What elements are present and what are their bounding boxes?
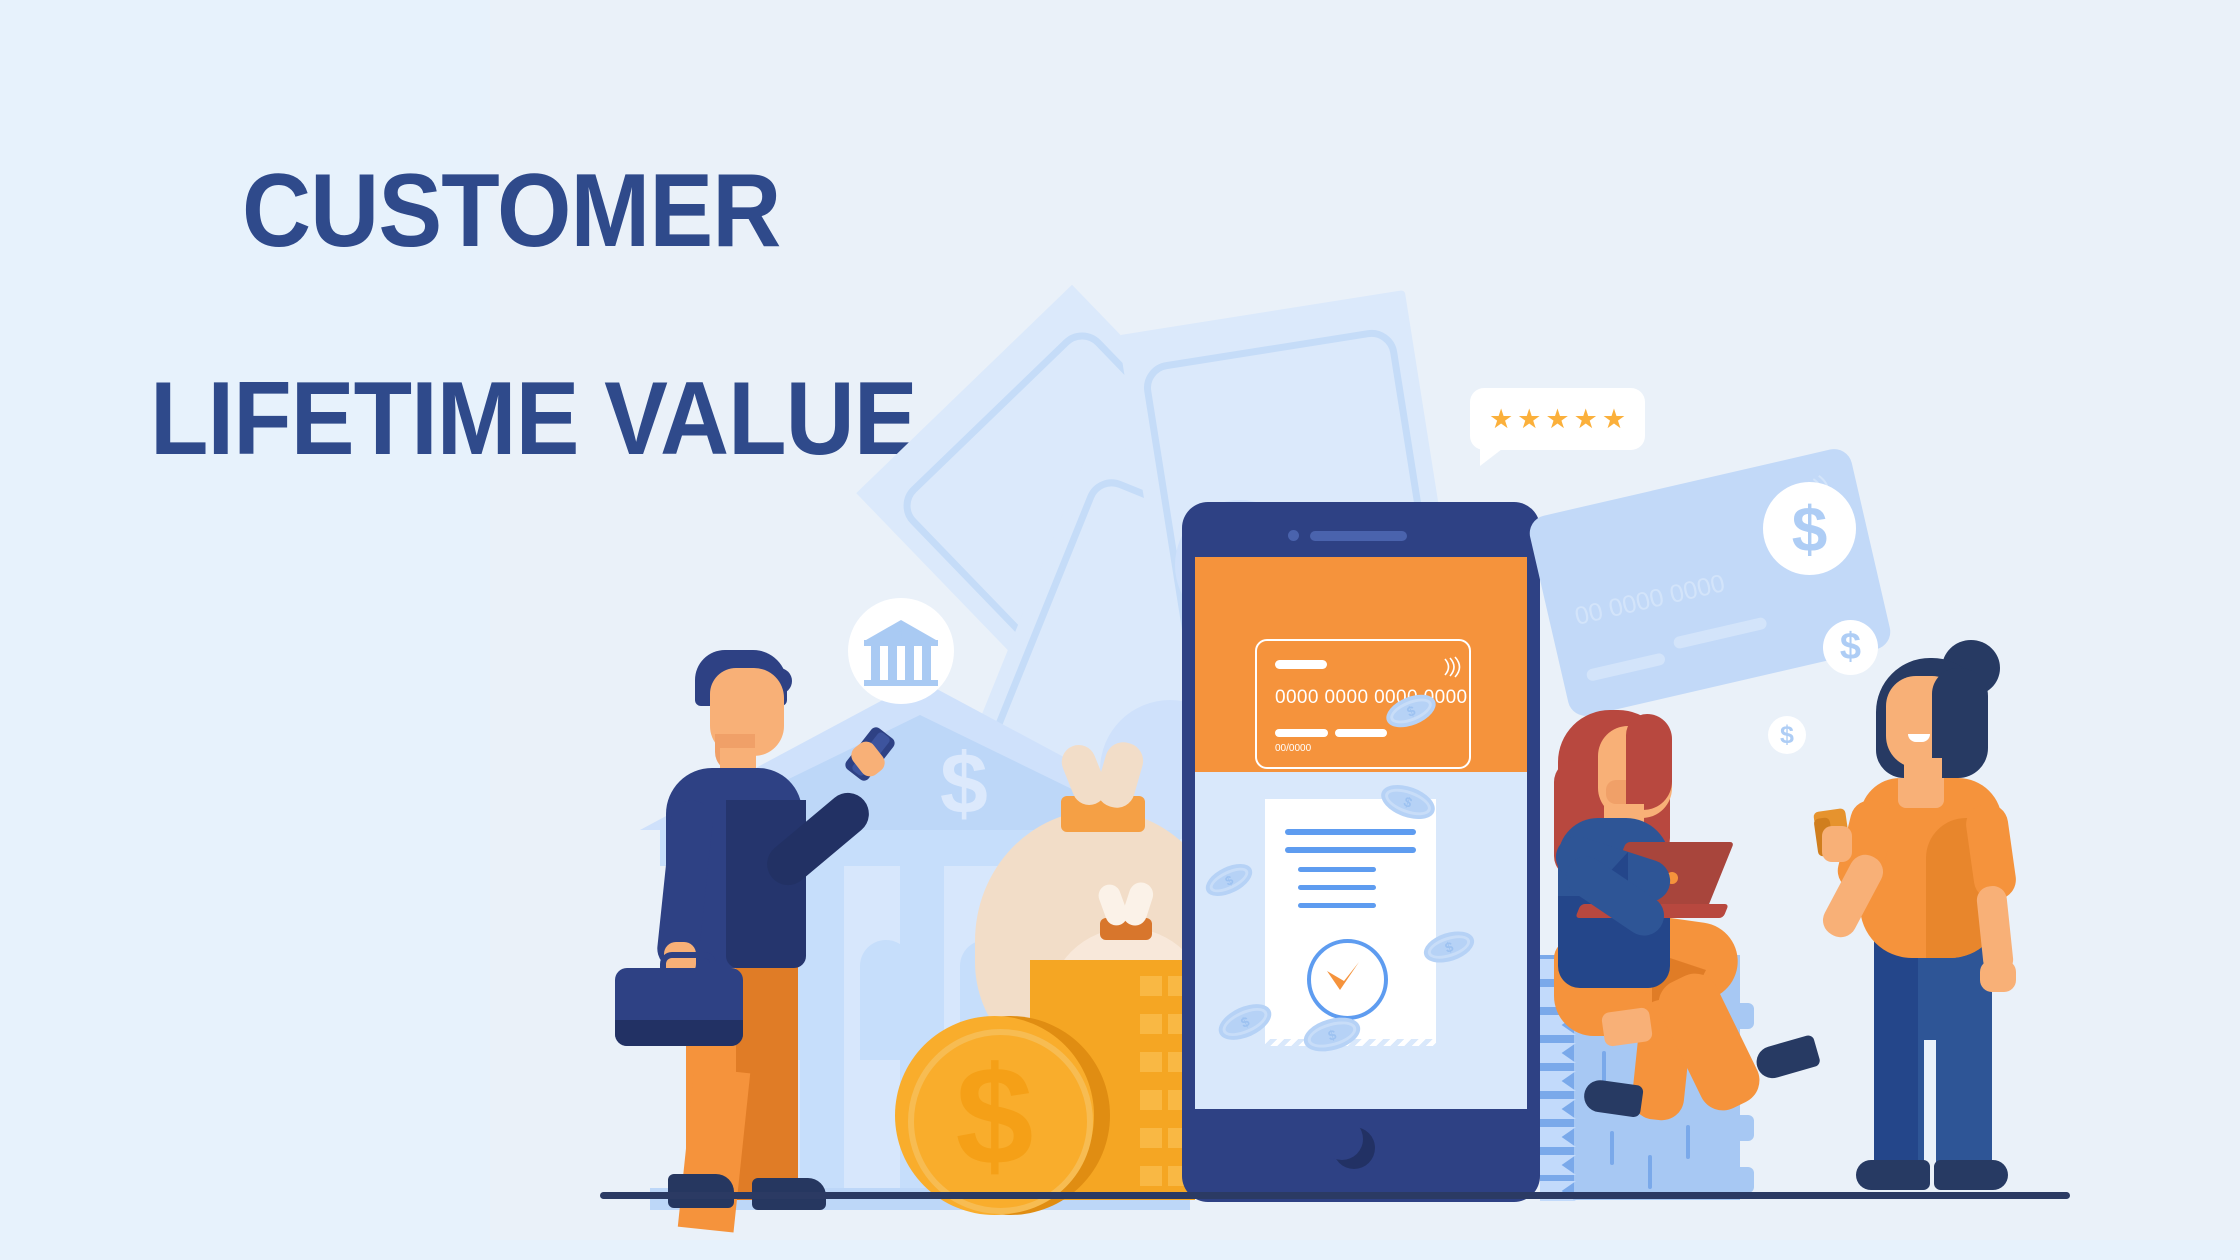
illustration-canvas: CUSTOMER LIFETIME VALUE $ $ bbox=[0, 0, 2240, 1260]
coin-dollar-symbol: $ bbox=[895, 1016, 1094, 1215]
phone-screen[interactable]: 0000 0000 0000 0000 00/0000 $ bbox=[1195, 557, 1527, 1109]
star-icon: ★ bbox=[1574, 406, 1598, 433]
title-line-2: LIFETIME VALUE bbox=[150, 367, 917, 471]
camera-icon bbox=[1288, 530, 1299, 541]
review-bubble: ★ ★ ★ ★ ★ bbox=[1470, 388, 1645, 450]
woman-with-laptop-figure bbox=[1548, 700, 1848, 1200]
ground-line bbox=[600, 1192, 2070, 1199]
star-icon: ★ bbox=[1489, 406, 1513, 433]
svg-text:$: $ bbox=[897, 625, 905, 640]
card-chip-icon bbox=[1275, 660, 1327, 669]
card-expiry: 00/0000 bbox=[1275, 743, 1311, 754]
title-line-1: CUSTOMER bbox=[150, 159, 917, 263]
businessman-figure bbox=[640, 650, 900, 1210]
speaker-icon bbox=[1310, 531, 1407, 541]
card-number: 0000 0000 0000 0000 bbox=[1275, 687, 1468, 709]
dollar-badge-large: $ bbox=[1763, 482, 1856, 575]
floating-coin: $ bbox=[1201, 857, 1257, 902]
check-mark-icon bbox=[1321, 957, 1365, 1001]
star-icon: ★ bbox=[1602, 406, 1626, 433]
page-title: CUSTOMER LIFETIME VALUE bbox=[150, 55, 917, 575]
contactless-icon bbox=[1441, 655, 1461, 679]
receipt-card bbox=[1265, 799, 1436, 1039]
star-icon: ★ bbox=[1517, 406, 1541, 433]
smartphone-device: 0000 0000 0000 0000 00/0000 $ bbox=[1182, 502, 1540, 1202]
home-button[interactable] bbox=[1333, 1127, 1375, 1169]
star-icon: ★ bbox=[1545, 406, 1569, 433]
background-card-number: 00 0000 0000 bbox=[1572, 569, 1728, 632]
credit-card-widget[interactable]: 0000 0000 0000 0000 00/0000 bbox=[1255, 639, 1471, 769]
standing-woman-figure bbox=[1838, 640, 2068, 1200]
